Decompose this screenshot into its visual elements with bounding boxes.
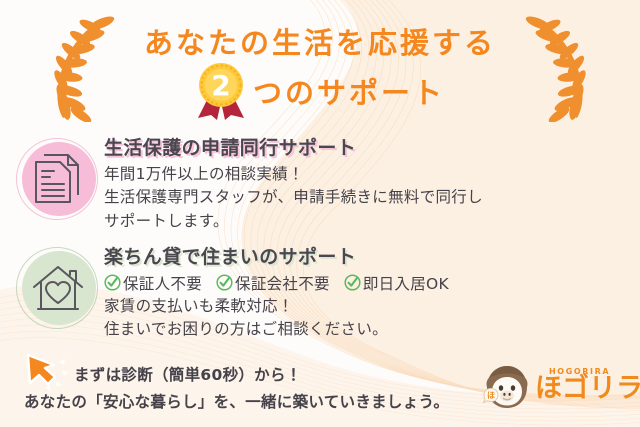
click-cursor-icon bbox=[24, 352, 76, 392]
support-title: 楽ちん貸で住まいのサポート bbox=[104, 247, 640, 269]
gorilla-mascot-icon: ほ bbox=[482, 363, 532, 413]
headline-primary: あなたの生活を応援する bbox=[0, 20, 640, 62]
documents-icon-wrapper bbox=[0, 136, 104, 232]
svg-text:ほ: ほ bbox=[487, 391, 495, 400]
support-line: 住まいでお困りの方はご相談ください。 bbox=[104, 318, 640, 342]
house-heart-icon bbox=[30, 259, 86, 317]
check-circle-icon bbox=[344, 274, 361, 291]
headline-secondary-text: つのサポート bbox=[253, 70, 445, 112]
headline-secondary-row: 2 つのサポート bbox=[0, 62, 640, 120]
support-block-housing: 楽ちん貸で住まいのサポート 保証人不要 bbox=[0, 245, 640, 342]
check-circle-icon bbox=[104, 274, 121, 291]
check-item: 保証人不要 bbox=[104, 272, 202, 294]
check-circle-icon bbox=[216, 274, 233, 291]
hogorira-logo[interactable]: ほ HOGORIRA ほゴリラ bbox=[482, 360, 630, 416]
footer-message-line: あなたの「安心な暮らし」を、一緒に築いていきましょう。 bbox=[24, 390, 449, 412]
documents-icon bbox=[30, 150, 86, 208]
support-block-body: 生活保護の申請同行サポート 年間1万件以上の相談実績！ 生活保護専門スタッフが、… bbox=[104, 136, 640, 233]
check-label: 保証会社不要 bbox=[235, 272, 330, 294]
support-line: 年間1万件以上の相談実績！ bbox=[104, 163, 640, 187]
support-checks-row: 保証人不要 保証会社不要 bbox=[104, 272, 640, 294]
house-heart-icon-wrapper bbox=[0, 245, 104, 341]
banner-header: あなたの生活を応援する 2 つのサポート bbox=[0, 0, 640, 128]
check-item: 即日入居OK bbox=[344, 272, 449, 294]
support-block-body: 楽ちん貸で住まいのサポート 保証人不要 bbox=[104, 245, 640, 342]
support-title: 生活保護の申請同行サポート bbox=[104, 138, 640, 160]
support-line: サポートします。 bbox=[104, 210, 640, 234]
logo-wordmark: ほゴリラ bbox=[535, 375, 640, 402]
check-label: 保証人不要 bbox=[123, 272, 202, 294]
check-item: 保証会社不要 bbox=[216, 272, 330, 294]
support-line: 生活保護専門スタッフが、申請手続きに無料で同行し bbox=[104, 186, 640, 210]
support-block-welfare: 生活保護の申請同行サポート 年間1万件以上の相談実績！ 生活保護専門スタッフが、… bbox=[0, 136, 640, 233]
support-line: 家賃の支払いも柔軟対応！ bbox=[104, 295, 640, 319]
medal-number: 2 bbox=[195, 64, 247, 108]
check-label: 即日入居OK bbox=[363, 272, 449, 294]
footer-cta-line: まずは診断（簡単60秒）から！ bbox=[74, 363, 302, 385]
promo-banner: あなたの生活を応援する 2 つのサポート bbox=[0, 0, 640, 427]
banner-footer: まずは診断（簡単60秒）から！ あなたの「安心な暮らし」を、一緒に築いていきまし… bbox=[0, 352, 640, 427]
medal-ribbon-icon: 2 bbox=[195, 62, 247, 120]
logo-text-wrap: HOGORIRA ほゴリラ bbox=[535, 363, 630, 413]
